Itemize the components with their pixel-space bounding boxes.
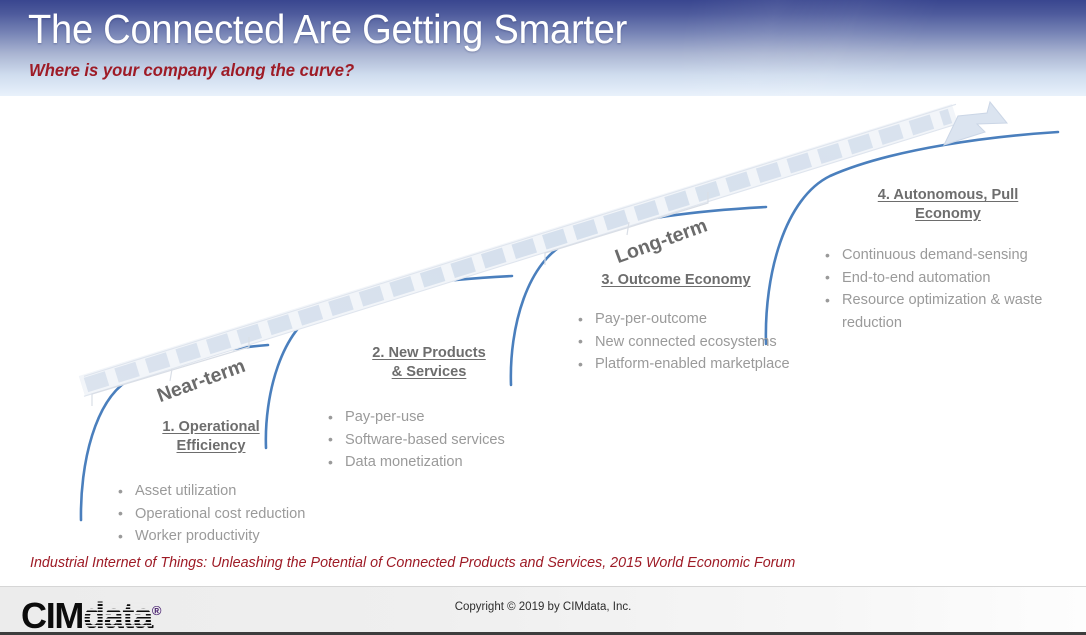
list-item: Worker productivity [116,525,309,548]
list-item: New connected ecosystems [576,331,776,354]
diagram-canvas: Near-term Long-term 1. Operational Effic… [0,96,1086,551]
source-title: Industrial Internet of Things: Unleashin… [30,555,602,571]
list-item: Operational cost reduction [116,503,309,526]
cimdata-logo: CIMdata® [21,591,162,635]
list-item: Data monetization [326,451,522,474]
copyright-notice: Copyright © 2019 by CIMdata, Inc. [0,601,1086,613]
list-item: Pay-per-use [326,406,522,429]
stage-2-title: 2. New Products & Services [336,344,522,382]
list-item: End-to-end automation [823,267,1073,290]
list-item: Pay-per-outcome [576,308,776,331]
stage-4-bullets: Continuous demand-sensing End-to-end aut… [823,244,1073,334]
slide-footer: CIMdata® Copyright © 2019 by CIMdata, In… [0,586,1086,635]
list-item: Asset utilization [116,480,309,503]
list-item: Software-based services [326,429,522,452]
stage-4-title-line1: 4. Autonomous, Pull [878,187,1019,203]
stage-2-bullets: Pay-per-use Software-based services Data… [326,406,522,474]
stage-1-title: 1. Operational Efficiency [113,418,309,456]
stage-1-bullets: Asset utilization Operational cost reduc… [116,480,309,548]
slide: The Connected Are Getting Smarter Where … [0,0,1086,635]
page-subtitle: Where is your company along the curve? [29,58,354,82]
stage-3-title-line1: 3. Outcome Economy [601,272,750,288]
stage-3-outcome-economy[interactable]: 3. Outcome Economy Pay-per-outcome New c… [576,271,776,376]
source-rest: , 2015 World Economic Forum [602,555,795,571]
stage-3-bullets: Pay-per-outcome New connected ecosystems… [576,308,776,376]
stage-1-operational-efficiency[interactable]: 1. Operational Efficiency Asset utilizat… [113,418,309,548]
stage-2-title-line2: & Services [392,364,467,380]
list-item: Platform-enabled marketplace [576,353,776,376]
stage-3-title: 3. Outcome Economy [576,271,776,290]
page-title: The Connected Are Getting Smarter [28,3,627,55]
stage-2-new-products-services[interactable]: 2. New Products & Services Pay-per-use S… [336,344,522,474]
stage-1-title-line2: Efficiency [177,438,246,454]
stage-4-title: 4. Autonomous, Pull Economy [823,186,1073,224]
stage-4-title-line2: Economy [915,206,981,222]
list-item: Continuous demand-sensing [823,244,1073,267]
list-item: Resource optimization & waste reduction [823,289,1073,334]
stage-1-title-line1: 1. Operational [162,419,259,435]
stage-4-autonomous-pull-economy[interactable]: 4. Autonomous, Pull Economy Continuous d… [823,186,1073,334]
source-attribution: Industrial Internet of Things: Unleashin… [30,555,795,571]
stage-2-title-line1: 2. New Products [372,345,486,361]
